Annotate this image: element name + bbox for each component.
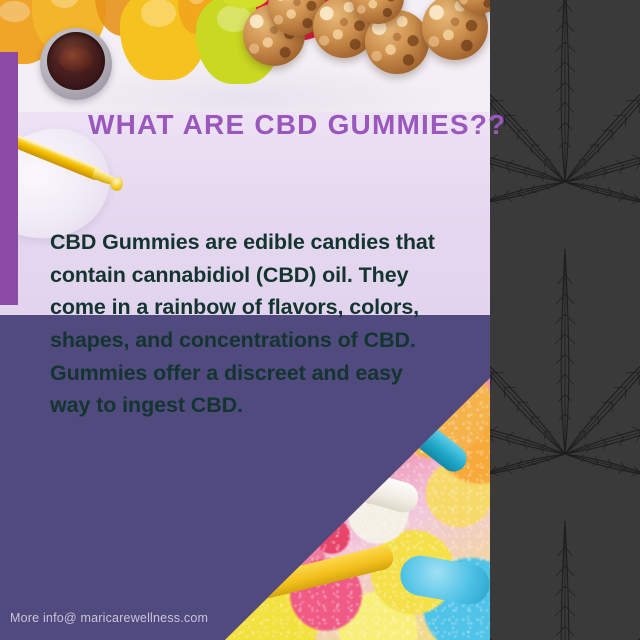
page-title: WHAT ARE CBD GUMMIES?? bbox=[88, 110, 478, 141]
candy-belt-pink bbox=[242, 420, 387, 507]
candy-cluster-blue bbox=[397, 552, 493, 607]
oil-jar-contents bbox=[47, 32, 105, 90]
top-gummies-photo bbox=[0, 0, 490, 112]
purple-accent-bar bbox=[0, 52, 18, 305]
cbd-oil-jar bbox=[40, 28, 112, 100]
cbd-gummies-poster: WHAT ARE CBD GUMMIES?? CBD Gummies are e… bbox=[0, 0, 640, 640]
candy-belt-yellow bbox=[254, 543, 396, 600]
cannabis-leaf-side-panel bbox=[490, 0, 640, 640]
contact-footer: More info@ maricarewellness.com bbox=[10, 611, 208, 625]
cannabis-leaf-icon bbox=[490, 0, 640, 272]
cannabis-leaf-icon bbox=[490, 244, 640, 544]
cannabis-leaf-icon bbox=[490, 516, 640, 640]
candy-belt-white bbox=[298, 454, 422, 516]
body-paragraph: CBD Gummies are edible candies that cont… bbox=[50, 226, 440, 422]
